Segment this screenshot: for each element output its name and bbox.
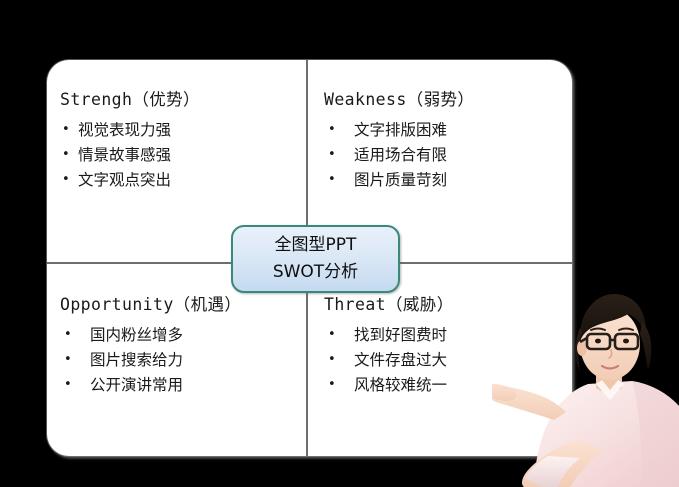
list-item: 找到好图费时 [324, 323, 572, 348]
list-item: 文字观点突出 [60, 168, 306, 193]
list-item: 文件存盘过大 [324, 348, 572, 373]
list-item: 适用场合有限 [324, 143, 572, 168]
quadrant-opportunity-bullets: 国内粉丝增多 图片搜索给力 公开演讲常用 [60, 323, 306, 398]
quadrant-opportunity-title: Opportunity（机遇） [60, 291, 306, 315]
center-label-chip[interactable]: 全图型PPT SWOT分析 [231, 225, 400, 293]
list-item: 公开演讲常用 [60, 373, 306, 398]
center-label-line-1: 全图型PPT [275, 232, 357, 259]
list-item: 图片质量苛刻 [324, 168, 572, 193]
list-item: 图片搜索给力 [60, 348, 306, 373]
quadrant-strength-bullets: 视觉表现力强 情景故事感强 文字观点突出 [60, 118, 306, 193]
list-item: 文字排版困难 [324, 118, 572, 143]
quadrant-threat-bullets: 找到好图费时 文件存盘过大 风格较难统一 [324, 323, 572, 398]
center-label-line-2: SWOT分析 [273, 259, 358, 286]
quadrant-weakness-bullets: 文字排版困难 适用场合有限 图片质量苛刻 [324, 118, 572, 193]
slide-canvas: Strengh（优势） 视觉表现力强 情景故事感强 文字观点突出 Weaknes… [0, 0, 679, 487]
list-item: 情景故事感强 [60, 143, 306, 168]
list-item: 风格较难统一 [324, 373, 572, 398]
list-item: 视觉表现力强 [60, 118, 306, 143]
quadrant-threat-title: Threat（威胁） [324, 291, 572, 315]
quadrant-strength-title: Strengh（优势） [60, 86, 306, 110]
list-item: 国内粉丝增多 [60, 323, 306, 348]
quadrant-weakness-title: Weakness（弱势） [324, 86, 572, 110]
